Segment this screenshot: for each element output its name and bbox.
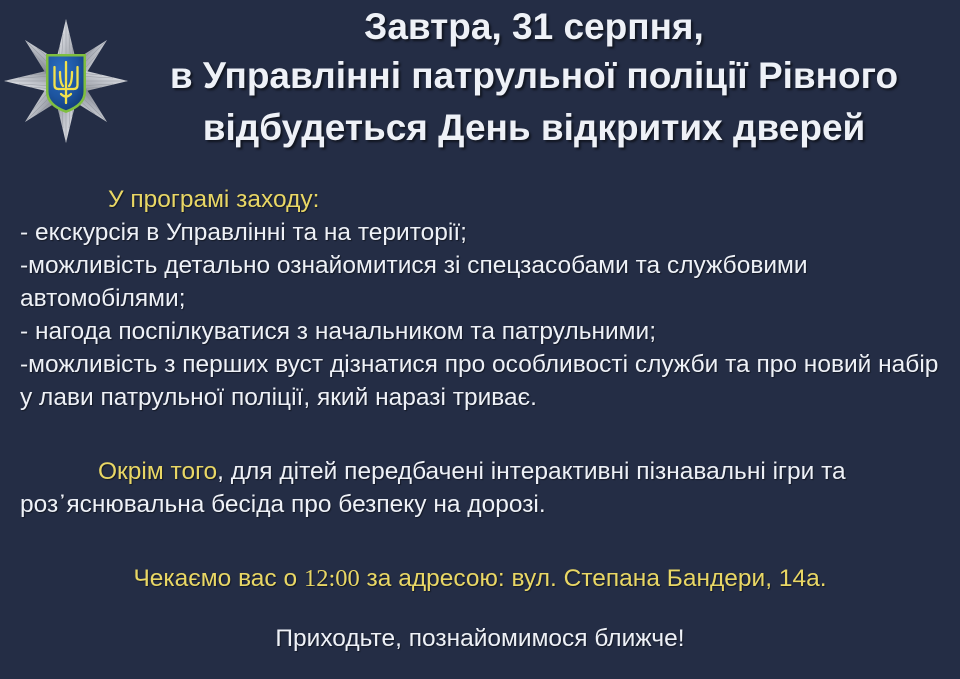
list-item: -можливість детально ознайомитися зі спе… bbox=[20, 249, 940, 315]
title-line-2: в Управлінні патрульної поліції Рівного bbox=[120, 50, 948, 102]
title-line-1: Завтра, 31 серпня, bbox=[120, 4, 948, 50]
list-item: - нагода поспілкуватися з начальником та… bbox=[20, 315, 940, 348]
list-item: - екскурсія в Управлінні та на території… bbox=[20, 216, 940, 249]
program-list: - екскурсія в Управлінні та на території… bbox=[20, 216, 940, 414]
closing-line: Приходьте, познайомимося ближче! bbox=[20, 622, 940, 655]
event-time-value: 12:00 bbox=[304, 565, 360, 592]
list-item: -можливість з перших вуст дізнатися про … bbox=[20, 348, 940, 414]
title-line-3: відбудеться День відкритих дверей bbox=[120, 102, 948, 154]
page-title: Завтра, 31 серпня, в Управлінні патрульн… bbox=[120, 4, 948, 154]
extra-highlight-label: Окрім того bbox=[98, 458, 217, 485]
poster-body: У програмі заходу: - екскурсія в Управлі… bbox=[20, 183, 940, 655]
ukrainian-trident-shield-icon bbox=[46, 54, 86, 113]
announcement-poster: Завтра, 31 серпня, в Управлінні патрульн… bbox=[0, 0, 960, 679]
program-heading-line: У програмі заходу: bbox=[20, 183, 940, 216]
invite-address-text: за адресою: вул. Степана Бандери, 14а. bbox=[360, 565, 827, 592]
extra-activities-paragraph: Окрім того, для дітей передбачені інтера… bbox=[20, 455, 940, 521]
invite-prefix-text: Чекаємо вас о bbox=[133, 565, 303, 592]
program-heading-label: У програмі заходу: bbox=[108, 186, 319, 213]
invitation-time-address-line: Чекаємо вас о 12:00 за адресою: вул. Сте… bbox=[20, 562, 940, 595]
ukrainian-police-star-emblem-icon bbox=[2, 17, 130, 145]
